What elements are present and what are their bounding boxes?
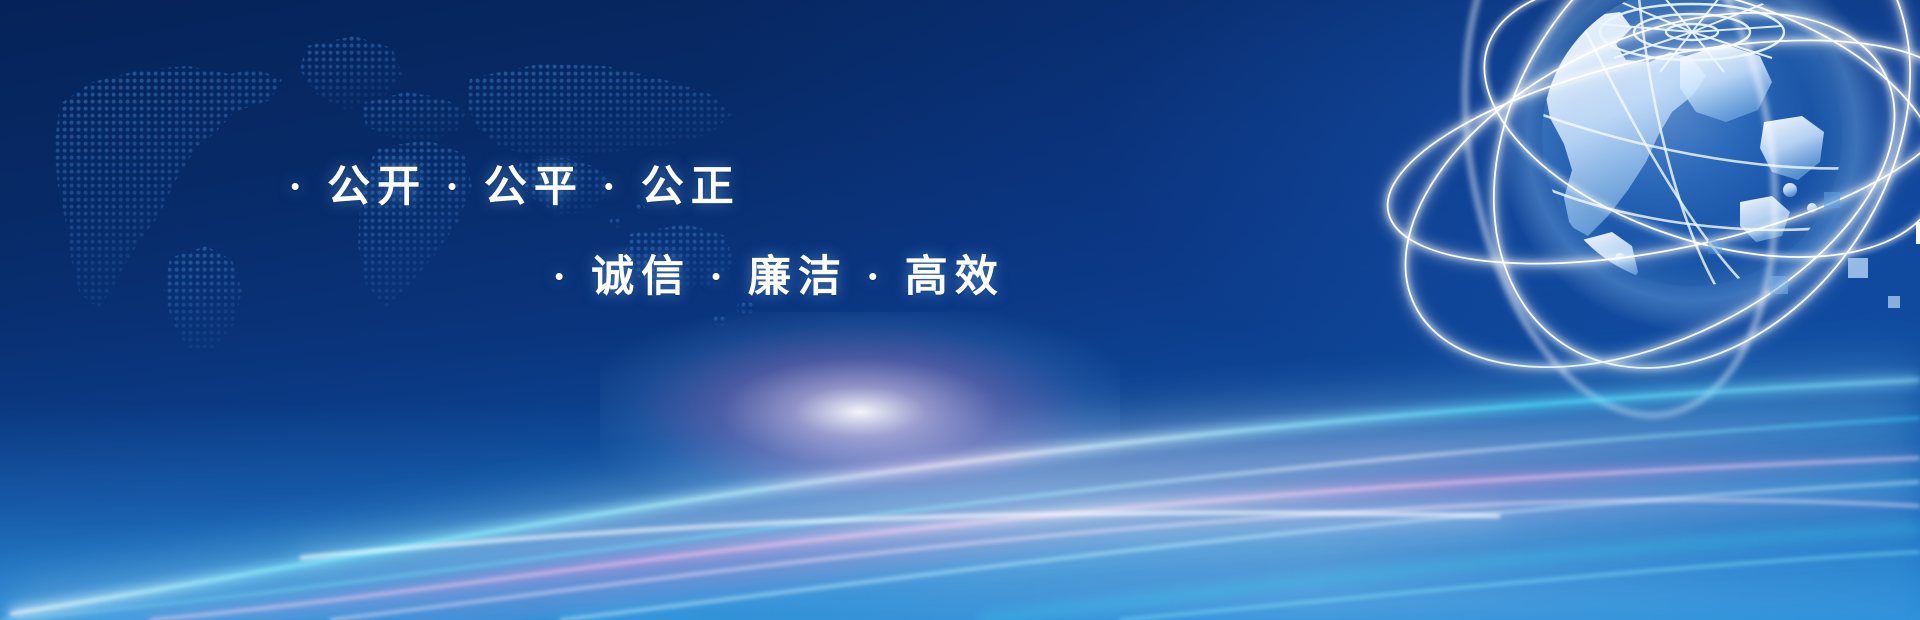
accent-square — [1848, 258, 1868, 278]
accent-square — [1708, 240, 1722, 254]
accent-square — [1824, 192, 1840, 208]
banner-hero: · 公开 · 公平 · 公正 · 诚信 · 廉洁 · 高效 — [0, 0, 1920, 620]
light-wave-streaks — [0, 290, 1920, 620]
accent-square — [1916, 222, 1920, 244]
